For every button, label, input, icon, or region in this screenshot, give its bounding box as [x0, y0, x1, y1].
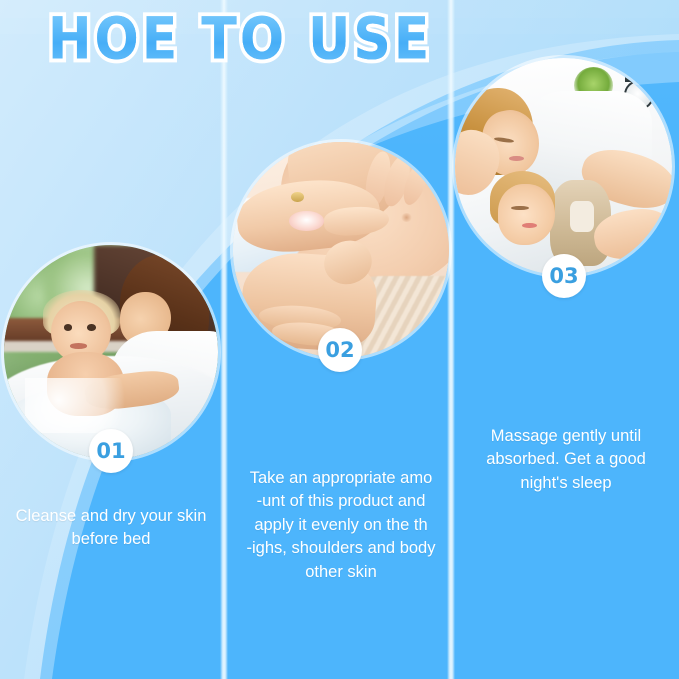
how-to-use-poster: HOE TO USE HOE TO USE 01 Cleanse and dry: [0, 0, 679, 679]
step-1-photo: [4, 245, 218, 459]
column-divider-1: [220, 0, 228, 679]
step-3-caption: Massage gently until absorbed. Get a goo…: [458, 425, 674, 495]
step-2-caption: Take an appropriate amo -unt of this pro…: [228, 467, 454, 584]
page-title: HOE TO USE: [48, 6, 432, 73]
step-3-number-badge: 03: [542, 254, 586, 298]
step-3-photo: [455, 58, 672, 275]
step-1-number-badge: 01: [89, 429, 133, 473]
step-2-photo: [233, 142, 449, 358]
step-2-number-badge: 02: [318, 328, 362, 372]
step-1-caption: Cleanse and dry your skin before bed: [4, 505, 218, 552]
